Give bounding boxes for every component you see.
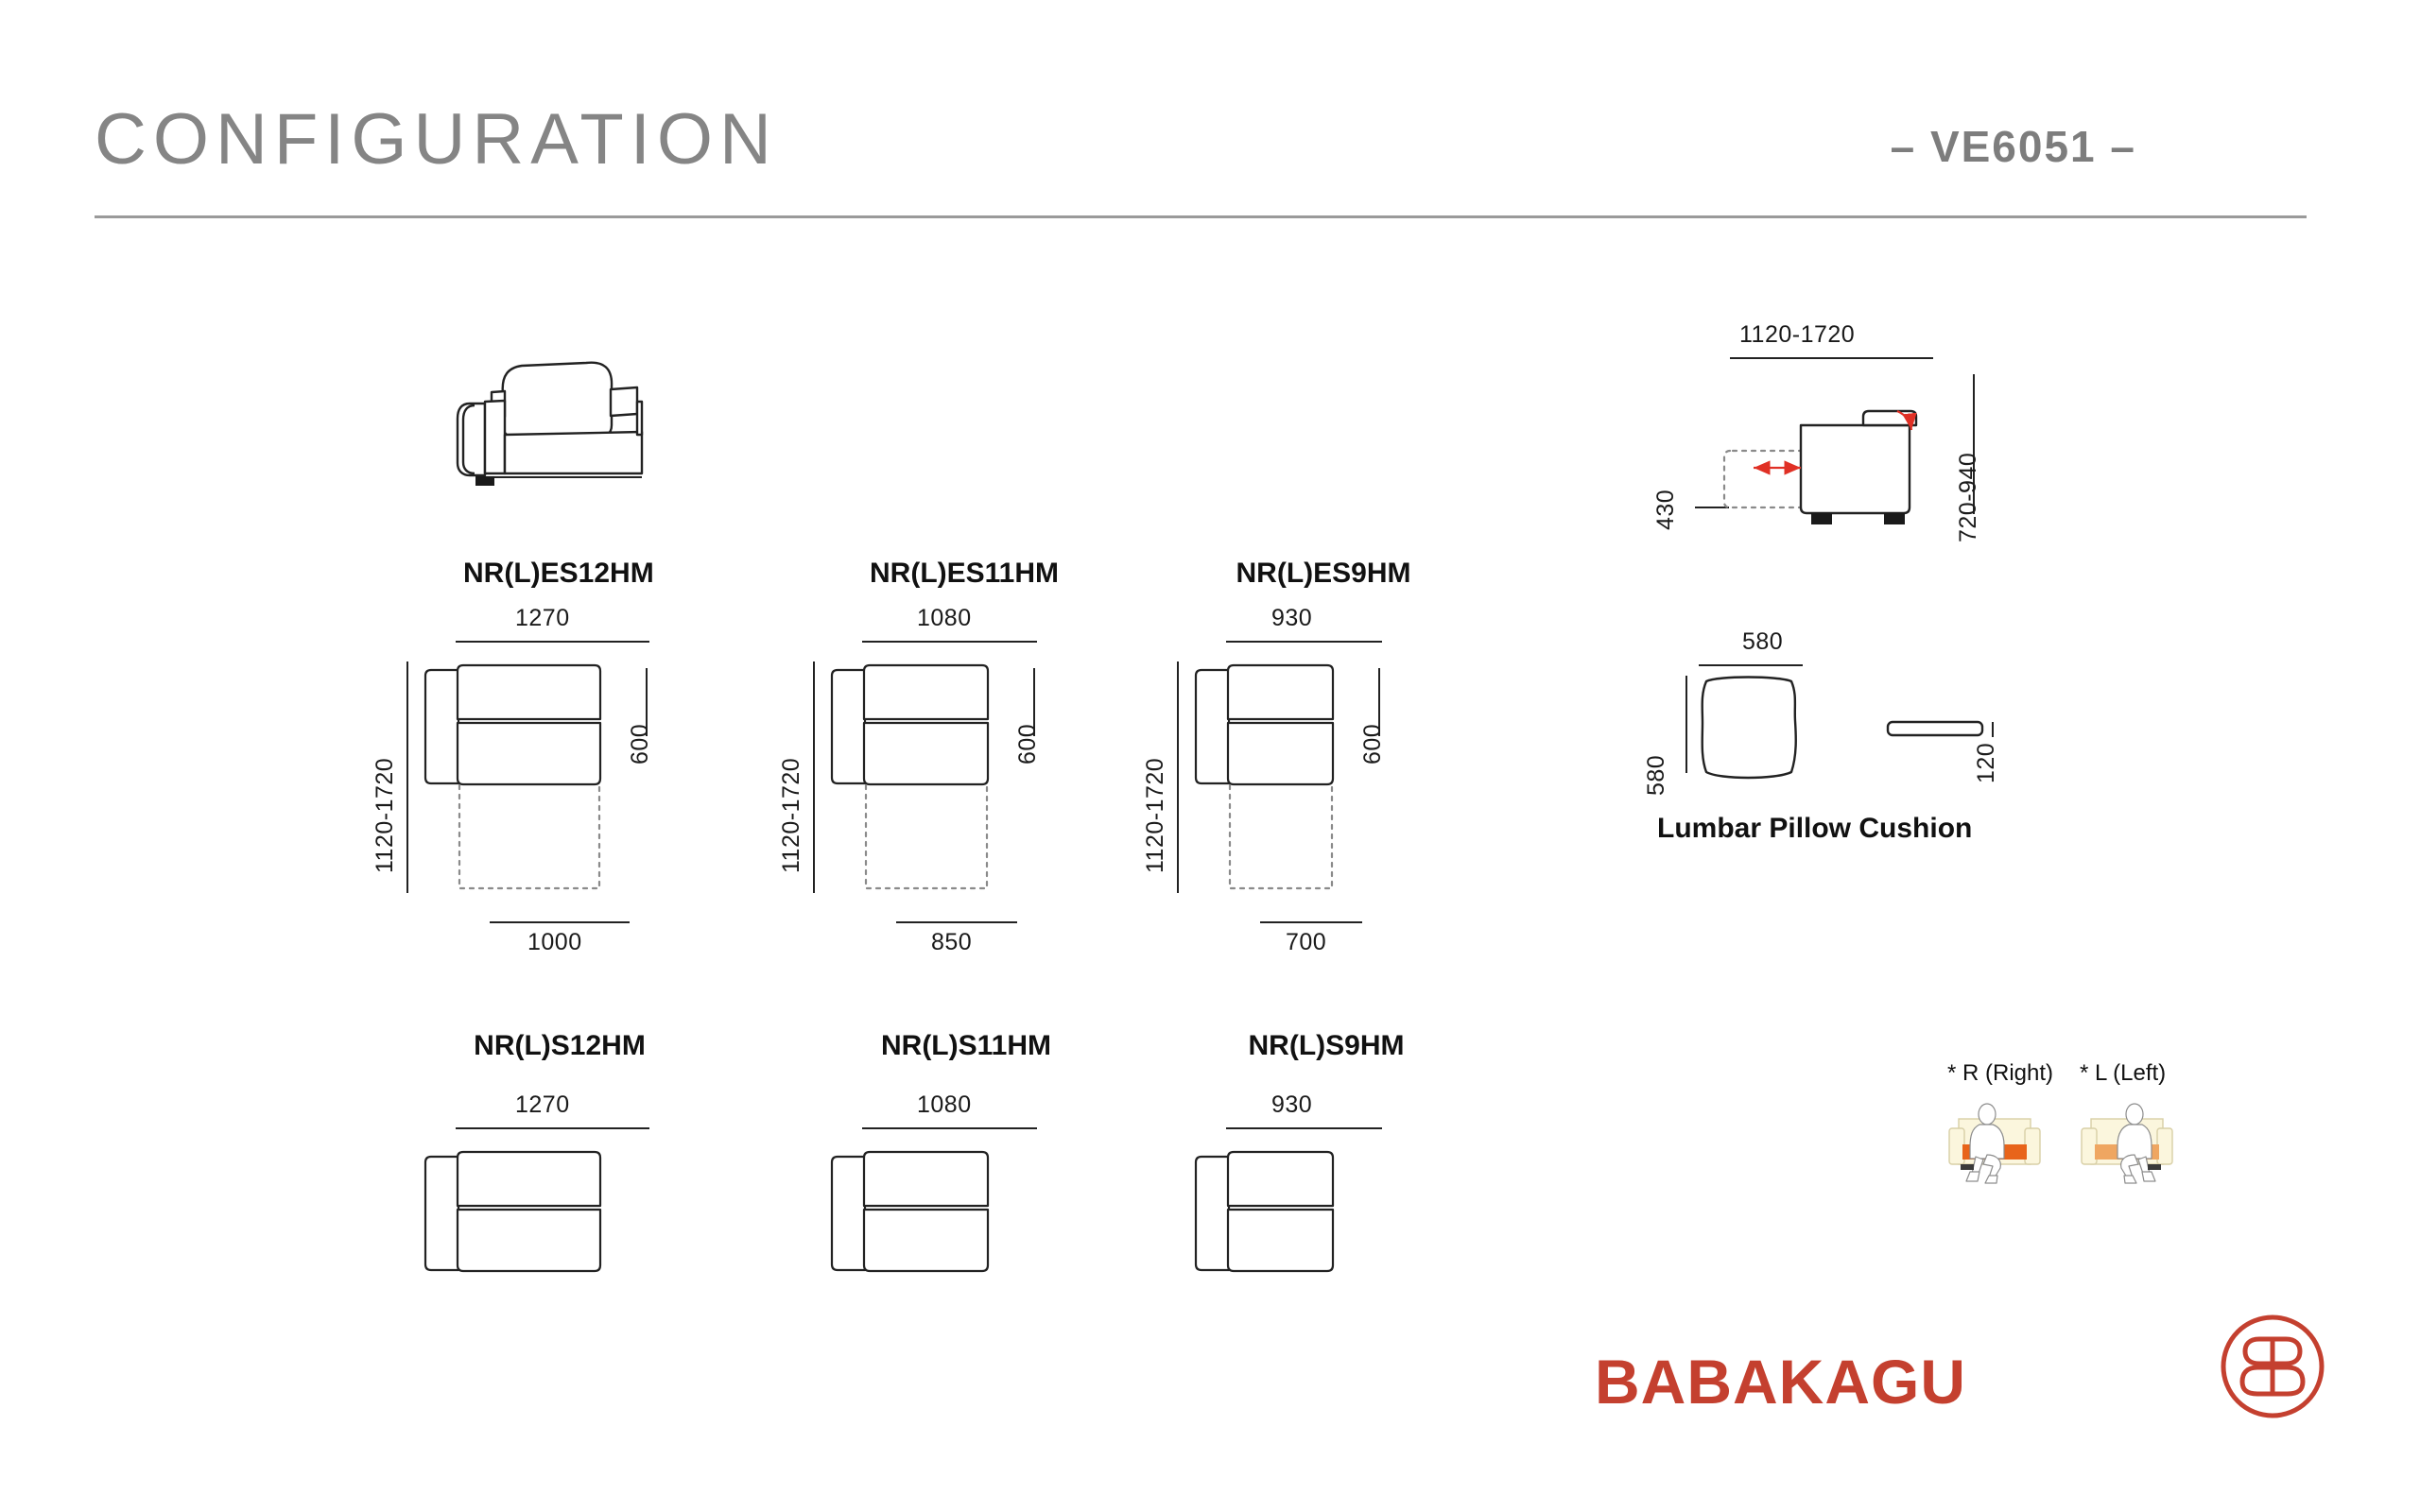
dim-width-s9hm: 930 (1271, 1091, 1312, 1119)
pillow-title: Lumbar Pillow Cushion (1657, 813, 1972, 845)
dim-rule-base-es12hm (490, 921, 630, 923)
dim-pillow-thickness: 120 (1973, 743, 2000, 783)
dim-rule-width-s9hm (1226, 1127, 1382, 1129)
module-label-s9hm: NR(L)S9HM (1232, 1030, 1421, 1062)
dim-base-es11hm: 850 (931, 929, 972, 956)
dim-rule-width-es12hm (456, 641, 649, 643)
page-title: CONFIGURATION (95, 104, 778, 176)
module-label-es12hm: NR(L)ES12HM (463, 558, 652, 590)
dim-rule-base-es11hm (896, 921, 1017, 923)
brand-monogram-logo (2217, 1311, 2328, 1422)
dim-side-width: 1120-1720 (1739, 321, 1855, 349)
module-label-s11hm: NR(L)S11HM (872, 1030, 1061, 1062)
header-divider (95, 215, 2307, 218)
dim-width-es12hm: 1270 (515, 605, 570, 632)
dim-pillow-height: 580 (1643, 755, 1670, 796)
model-code: – VE6051 – (1891, 121, 2136, 172)
dim-height-es11hm: 1120-1720 (778, 758, 805, 873)
dim-width-es11hm: 1080 (917, 605, 972, 632)
dim-width-s12hm: 1270 (515, 1091, 570, 1119)
dim-rule-pillow-width (1699, 664, 1803, 666)
dim-width-es9hm: 930 (1271, 605, 1312, 632)
dim-width-s11hm: 1080 (917, 1091, 972, 1119)
module-label-s12hm: NR(L)S12HM (465, 1030, 654, 1062)
dim-base-es9hm: 700 (1286, 929, 1326, 956)
dim-height-es12hm: 1120-1720 (372, 758, 399, 873)
sofa-front-elevation (454, 345, 657, 491)
legend-left-caption: * L (Left) (2080, 1060, 2166, 1087)
dim-rule-pillow-height (1685, 676, 1687, 773)
dim-base-es12hm: 1000 (527, 929, 582, 956)
dim-rule-width-s12hm (456, 1127, 649, 1129)
dim-rule-side-width (1730, 357, 1933, 359)
dim-rule-base-es9hm (1260, 921, 1362, 923)
module-label-es9hm: NR(L)ES9HM (1229, 558, 1418, 590)
dim-rule-width-es11hm (862, 641, 1037, 643)
dim-pillow-width: 580 (1742, 628, 1783, 656)
dim-height-es9hm: 1120-1720 (1142, 758, 1169, 873)
dim-rule-pillow-thickness (1992, 722, 1994, 737)
brand-wordmark: BABAKAGU (1595, 1346, 1966, 1417)
legend-right-caption: * R (Right) (1947, 1060, 2053, 1087)
dim-rule-width-s11hm (862, 1127, 1037, 1129)
module-label-es11hm: NR(L)ES11HM (870, 558, 1059, 590)
dim-rule-width-es9hm (1226, 641, 1382, 643)
